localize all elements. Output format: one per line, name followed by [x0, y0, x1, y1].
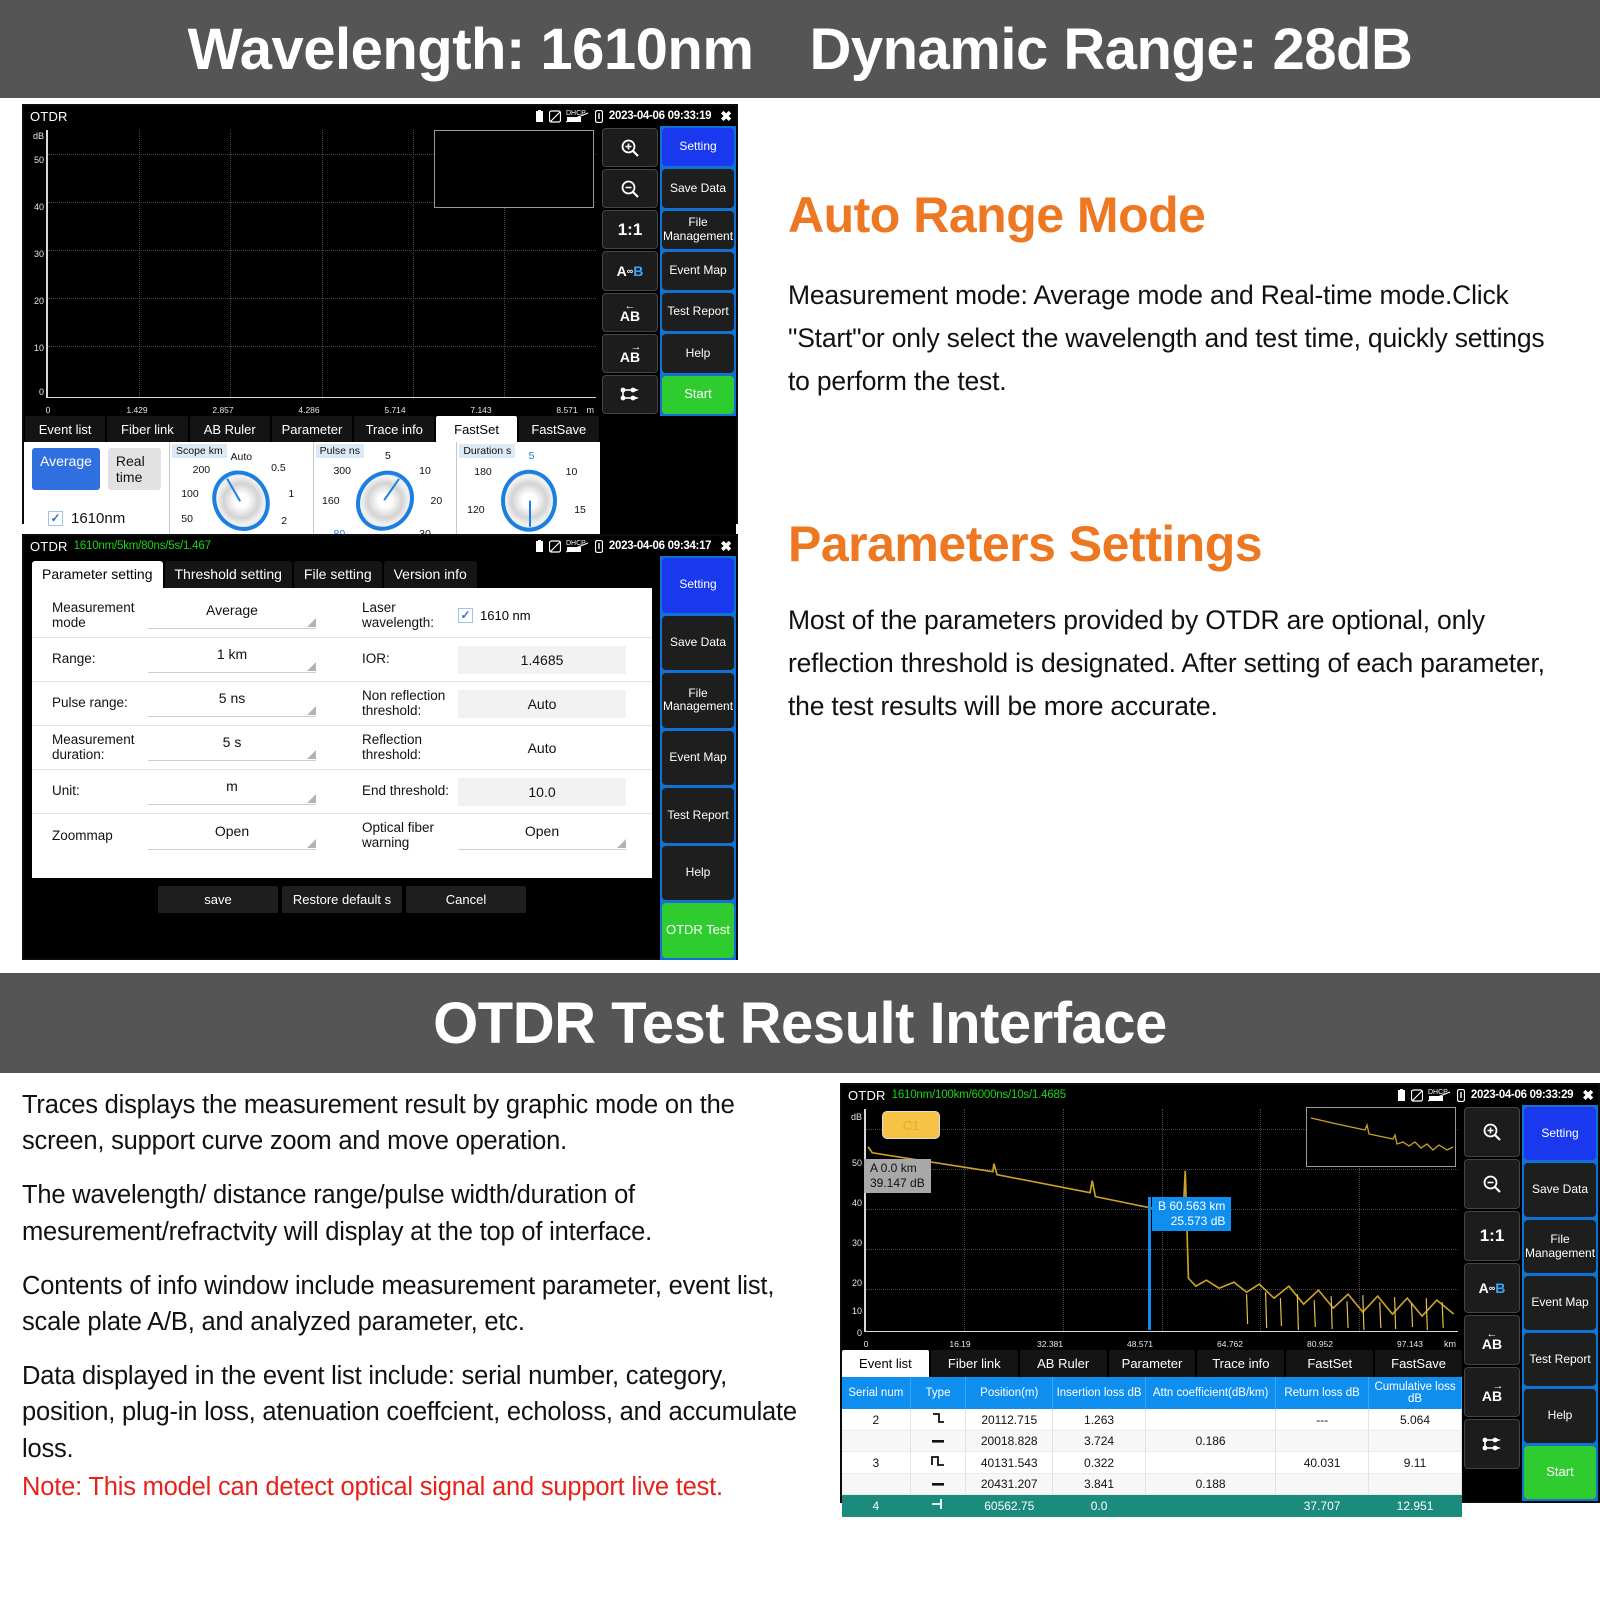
cell-serial	[842, 1474, 910, 1495]
cell-position: 20018.828	[966, 1431, 1053, 1452]
screen3-xtick-4: 64.762	[1217, 1339, 1243, 1349]
tab-fiber-link[interactable]: Fiber link	[107, 416, 187, 442]
scope-mark-1: 1	[288, 488, 294, 500]
screen1-xtick-0: 0	[46, 405, 51, 415]
label-laser-wavelength: Laser wavelength:	[362, 601, 458, 631]
bottom-paragraph-4: Data displayed in the event list include…	[22, 1358, 822, 1467]
duration-mark-10: 10	[566, 466, 578, 478]
scope-dial-knob[interactable]	[202, 460, 281, 542]
cell-cumulative: 12.951	[1369, 1495, 1462, 1517]
cell-return: 40.031	[1276, 1452, 1369, 1474]
tab-event-list[interactable]: Event list	[842, 1350, 929, 1377]
menu-event-map-button[interactable]: Event Map	[1524, 1276, 1596, 1329]
cell-return	[1276, 1474, 1369, 1495]
cell-attn	[1146, 1452, 1276, 1474]
screen1-status-icons: DHCP	[535, 109, 603, 123]
screen1-ytick-40: 40	[24, 202, 44, 212]
tab-fastsave[interactable]: FastSave	[1375, 1350, 1462, 1377]
scope-mark-200: 200	[193, 464, 211, 476]
tab-parameter-setting[interactable]: Parameter setting	[32, 561, 163, 588]
screen1-timestamp: 2023-04-06 09:33:19	[609, 110, 711, 122]
duration-mark-5: 5	[529, 450, 535, 462]
scope-mark-50: 50	[181, 513, 193, 525]
heading-parameters-settings: Parameters Settings	[788, 515, 1570, 573]
screen3-xtick-1: 16.19	[949, 1339, 970, 1349]
screen3-ytick-10: 10	[842, 1306, 862, 1316]
cell-insertion: 3.724	[1053, 1431, 1146, 1452]
marker-a-position: A 0.0 km	[870, 1161, 925, 1176]
screen1-ytick-50: 50	[24, 155, 44, 165]
cell-cumulative: 5.064	[1369, 1409, 1462, 1431]
ab-move-right-icon[interactable]: →AB	[1464, 1367, 1520, 1417]
settings-footer: save Restore default s Cancel	[24, 878, 660, 921]
screen3-tool-column: 1:1 A∞B ←AB →AB	[1462, 1105, 1522, 1471]
bottom-paragraph-3: Contents of info window include measurem…	[22, 1268, 822, 1340]
tab-trace-info[interactable]: Trace info	[1197, 1350, 1284, 1377]
screen1-xtick-1: 1.429	[126, 405, 147, 415]
zoom-in-icon[interactable]	[1464, 1107, 1520, 1157]
dropdown-optical-fiber-warning[interactable]: Open	[458, 823, 626, 850]
menu-help-button[interactable]: Help	[662, 846, 734, 901]
screen3-test-params: 1610nm/100km/6000ns/10s/1.4685	[892, 1089, 1066, 1101]
screen2-status-icons: DHCP	[535, 539, 603, 553]
scope-mark-auto: Auto	[231, 451, 253, 463]
close-icon[interactable]: ✖	[720, 538, 732, 555]
table-row[interactable]: 20018.828 3.724 0.186	[842, 1431, 1462, 1452]
dhcp-icon: DHCP	[1428, 1088, 1452, 1102]
auto-fit-icon[interactable]	[1464, 1419, 1520, 1469]
tab-event-list[interactable]: Event list	[25, 416, 105, 442]
event-list-header-row: Serial num Type Position(m) Insertion lo…	[842, 1377, 1462, 1409]
menu-file-management-button[interactable]: File Management	[1524, 1220, 1596, 1273]
screen1-x-unit: m	[587, 405, 595, 415]
power-icon	[595, 110, 603, 123]
screen3-status-icons: DHCP	[1397, 1088, 1465, 1102]
screen2-menu-column: Setting Save Data File Management Event …	[660, 556, 736, 960]
screen1-zoom-inset	[434, 130, 594, 208]
average-mode-button[interactable]: Average	[32, 448, 100, 490]
screen1-ytick-30: 30	[24, 249, 44, 259]
bottom-description-column: Traces displays the measurement result b…	[0, 1073, 840, 1600]
menu-otdr-test-button[interactable]: OTDR Test	[662, 903, 734, 958]
one-to-one-icon[interactable]: 1:1	[602, 210, 658, 249]
screen1-ytick-10: 10	[24, 343, 44, 353]
cell-position: 20431.207	[966, 1474, 1053, 1495]
close-icon[interactable]: ✖	[1582, 1087, 1594, 1104]
cell-insertion: 1.263	[1053, 1409, 1146, 1431]
svg-text:DHCP: DHCP	[1428, 1089, 1448, 1096]
scope-mark-0.5: 0.5	[271, 462, 286, 474]
fiber-section-icon	[910, 1431, 966, 1452]
input-non-reflection-threshold[interactable]: Auto	[458, 690, 626, 718]
menu-save-data-button[interactable]: Save Data	[662, 169, 734, 207]
fiber-end-icon	[910, 1495, 966, 1517]
menu-save-data-button[interactable]: Save Data	[1524, 1163, 1596, 1216]
marker-a[interactable]: A 0.0 km 39.147 dB	[864, 1159, 931, 1193]
col-type: Type	[910, 1377, 966, 1409]
text-auto-range-mode: Measurement mode: Average mode and Real-…	[788, 274, 1570, 403]
tab-ab-ruler[interactable]: AB Ruler	[190, 416, 270, 442]
top-banner: Wavelength: 1610nm Dynamic Range: 28dB	[0, 0, 1600, 98]
zoom-out-icon[interactable]	[602, 169, 658, 208]
cell-insertion: 3.841	[1053, 1474, 1146, 1495]
input-ior[interactable]: 1.4685	[458, 646, 626, 674]
marker-c1[interactable]: C1	[882, 1111, 940, 1139]
bottom-paragraph-1: Traces displays the measurement result b…	[22, 1087, 822, 1159]
tab-version-info[interactable]: Version info	[384, 561, 477, 588]
dhcp-icon: DHCP	[566, 539, 590, 553]
cell-attn	[1146, 1409, 1276, 1431]
tab-ab-ruler[interactable]: AB Ruler	[1020, 1350, 1107, 1377]
col-cumulative-loss: Cumulative loss dB	[1369, 1377, 1462, 1409]
reflection-peak-icon	[910, 1452, 966, 1474]
label-ior: IOR:	[362, 652, 458, 667]
screen1-ytick-0: 0	[24, 387, 44, 397]
settings-form: Measurement mode Average Laser wavelengt…	[32, 588, 652, 878]
label-range: Range:	[52, 652, 148, 667]
screen2-titlebar: OTDR 1610nm/5km/80ns/5s/1.467 DHCP 2023-…	[24, 536, 736, 556]
table-row[interactable]: 2 20112.715 1.263 --- 5.064	[842, 1409, 1462, 1431]
sim-icon	[549, 110, 561, 123]
dropdown-measurement-mode[interactable]: Average	[148, 602, 316, 629]
screen2-test-params: 1610nm/5km/80ns/5s/1.467	[74, 540, 211, 552]
cell-cumulative: 9.11	[1369, 1452, 1462, 1474]
menu-start-button[interactable]: Start	[662, 376, 734, 414]
screen3-xtick-2: 32.381	[1037, 1339, 1063, 1349]
screen3-zoom-inset	[1306, 1107, 1456, 1167]
cell-return: ---	[1276, 1409, 1369, 1431]
marker-b-position: B 60.563 km	[1158, 1199, 1225, 1214]
label-unit: Unit:	[52, 784, 148, 799]
screen3-trace-chart[interactable]: dB 50 40 30 20 10 0 0 16.19 32.381 48.57…	[842, 1105, 1462, 1350]
dropdown-unit[interactable]: m	[148, 778, 316, 805]
cell-attn: 0.186	[1146, 1431, 1276, 1452]
menu-event-map-button[interactable]: Event Map	[662, 731, 734, 786]
ab-move-left-icon[interactable]: ←AB	[1464, 1315, 1520, 1365]
cell-position: 20112.715	[966, 1409, 1053, 1431]
cell-serial: 4	[842, 1495, 910, 1517]
menu-start-button[interactable]: Start	[1524, 1446, 1596, 1499]
duration-dial-label: Duration s	[459, 444, 515, 458]
pulse-mark-160: 160	[322, 495, 340, 507]
cell-serial: 2	[842, 1409, 910, 1431]
cell-insertion: 0.0	[1053, 1495, 1146, 1517]
label-reflection-threshold: Reflection threshold:	[362, 733, 458, 763]
cell-cumulative	[1369, 1431, 1462, 1452]
settings-row-measurement-duration: Measurement duration: 5 s Reflection thr…	[32, 726, 652, 770]
dropdown-range[interactable]: 1 km	[148, 646, 316, 673]
screen1-xtick-5: 7.143	[470, 405, 491, 415]
cell-position: 60562.75	[966, 1495, 1053, 1517]
marker-b[interactable]: B 60.563 km 25.573 dB	[1152, 1197, 1231, 1231]
table-row[interactable]: 3 40131.543 0.322 40.031 9.11	[842, 1452, 1462, 1474]
screen1-tabbar: Event list Fiber link AB Ruler Parameter…	[24, 416, 600, 442]
screen3-xtick-0: 0	[864, 1339, 869, 1349]
settings-row-unit: Unit: m End threshold: 10.0	[32, 770, 652, 814]
tab-parameter[interactable]: Parameter	[1109, 1350, 1196, 1377]
cell-cumulative	[1369, 1474, 1462, 1495]
tab-fastset[interactable]: FastSet	[436, 416, 516, 442]
scope-mark-100: 100	[181, 488, 199, 500]
ab-move-right-icon[interactable]: →AB	[602, 334, 658, 373]
label-end-threshold: End threshold:	[362, 784, 458, 799]
power-icon	[595, 540, 603, 553]
duration-dial-knob[interactable]	[501, 470, 557, 532]
wavelength-label: 1610nm	[71, 510, 125, 527]
settings-row-zoommap: Zoommap Open Optical fiber warning Open	[32, 814, 652, 858]
cancel-button[interactable]: Cancel	[406, 886, 526, 913]
col-serial-num: Serial num	[842, 1377, 910, 1409]
tab-file-setting[interactable]: File setting	[294, 561, 382, 588]
screen1-xtick-2: 2.857	[212, 405, 233, 415]
left-screens-column: OTDR DHCP 2023-04-06 09:33:19 ✖	[0, 98, 770, 973]
auto-fit-icon[interactable]	[602, 375, 658, 414]
mid-banner-title: OTDR Test Result Interface	[433, 990, 1167, 1057]
marker-a-loss: 39.147 dB	[870, 1176, 925, 1191]
table-row[interactable]: 4 60562.75 0.0 37.707 12.951	[842, 1495, 1462, 1517]
menu-help-button[interactable]: Help	[1524, 1389, 1596, 1442]
reflective-event-icon	[910, 1409, 966, 1431]
screen1-xtick-4: 5.714	[384, 405, 405, 415]
battery-icon	[535, 110, 544, 123]
tab-threshold-setting[interactable]: Threshold setting	[165, 561, 292, 588]
right-description-column: Auto Range Mode Measurement mode: Averag…	[770, 98, 1600, 973]
table-row[interactable]: 20431.207 3.841 0.188	[842, 1474, 1462, 1495]
pulse-mark-300: 300	[333, 465, 351, 477]
otdr-screen-settings: OTDR 1610nm/5km/80ns/5s/1.467 DHCP 2023-…	[22, 534, 738, 960]
ab-move-left-icon[interactable]: ←AB	[602, 293, 658, 332]
screen3-ytick-0: 0	[842, 1328, 862, 1338]
text-parameters-settings: Most of the parameters provided by OTDR …	[788, 599, 1570, 728]
menu-save-data-button[interactable]: Save Data	[662, 616, 734, 671]
event-list-table: Serial num Type Position(m) Insertion lo…	[842, 1377, 1462, 1517]
pulse-dial-label: Pulse ns	[316, 444, 364, 458]
screen1-titlebar: OTDR DHCP 2023-04-06 09:33:19 ✖	[24, 106, 736, 126]
screen3-timestamp: 2023-04-06 09:33:29	[1471, 1089, 1573, 1101]
battery-icon	[535, 540, 544, 553]
fiber-section-icon	[910, 1474, 966, 1495]
menu-test-report-button[interactable]: Test Report	[1524, 1333, 1596, 1386]
screen1-app-title: OTDR	[30, 109, 68, 124]
screen3-xtick-5: 80.952	[1307, 1339, 1333, 1349]
menu-file-management-button[interactable]: File Management	[662, 211, 734, 249]
tab-fastsave[interactable]: FastSave	[519, 416, 599, 442]
menu-event-map-button[interactable]: Event Map	[662, 252, 734, 290]
col-position: Position(m)	[966, 1377, 1053, 1409]
label-optical-fiber-warning: Optical fiber warning	[362, 821, 458, 851]
power-icon	[1457, 1089, 1465, 1102]
pulse-dial-knob[interactable]	[344, 459, 425, 542]
duration-mark-120: 120	[467, 504, 485, 516]
marker-b-loss: 25.573 dB	[1158, 1214, 1225, 1229]
restore-defaults-button[interactable]: Restore default s	[282, 886, 402, 913]
label-non-reflection-threshold: Non reflection threshold:	[362, 689, 458, 719]
one-to-one-icon[interactable]: 1:1	[1464, 1211, 1520, 1261]
scope-dial-label: Scope km	[172, 444, 227, 458]
cell-return	[1276, 1431, 1369, 1452]
pulse-mark-5: 5	[385, 450, 391, 462]
screen1-trace-chart[interactable]: dB 50 40 30 20 10 0 0 1.429 2.857 4.286 …	[24, 126, 600, 416]
banner-dynamic-range: Dynamic Range: 28dB	[809, 16, 1412, 83]
cell-attn: 0.188	[1146, 1474, 1276, 1495]
otdr-screen-autorange: OTDR DHCP 2023-04-06 09:33:19 ✖	[22, 104, 738, 524]
duration-mark-180: 180	[474, 466, 492, 478]
screen1-y-axis-label: dB	[24, 131, 44, 141]
settings-row-pulse-range: Pulse range: 5 ns Non reflection thresho…	[32, 682, 652, 726]
scope-mark-2: 2	[281, 515, 287, 527]
ab-link-icon[interactable]: A∞B	[602, 251, 658, 290]
label-pulse-range: Pulse range:	[52, 696, 148, 711]
save-button[interactable]: save	[158, 886, 278, 913]
sim-icon	[1411, 1089, 1423, 1102]
screen1-plot-area	[46, 130, 596, 398]
menu-help-button[interactable]: Help	[662, 334, 734, 372]
settings-row-range: Range: 1 km IOR: 1.4685	[32, 638, 652, 682]
duration-mark-15: 15	[574, 504, 586, 516]
label-measurement-duration: Measurement duration:	[52, 733, 148, 763]
col-insertion-loss: Insertion loss dB	[1053, 1377, 1146, 1409]
screen3-tabbar: Event list Fiber link AB Ruler Parameter…	[842, 1350, 1462, 1377]
zoom-out-icon[interactable]	[1464, 1159, 1520, 1209]
mid-banner: OTDR Test Result Interface	[0, 973, 1600, 1073]
dhcp-icon: DHCP	[566, 109, 590, 123]
cursor-b-line[interactable]	[1148, 1197, 1151, 1330]
settings-tabbar: Parameter setting Threshold setting File…	[24, 556, 660, 588]
menu-setting-button[interactable]: Setting	[662, 128, 734, 166]
col-return-loss: Return loss dB	[1276, 1377, 1369, 1409]
cell-attn	[1146, 1495, 1276, 1517]
screen2-timestamp: 2023-04-06 09:34:17	[609, 540, 711, 552]
menu-test-report-button[interactable]: Test Report	[662, 788, 734, 843]
screen1-xtick-3: 4.286	[298, 405, 319, 415]
svg-text:DHCP: DHCP	[566, 110, 586, 117]
dropdown-zoommap[interactable]: Open	[148, 823, 316, 850]
settings-row-measurement-mode: Measurement mode Average Laser wavelengt…	[32, 594, 652, 638]
close-icon[interactable]: ✖	[720, 108, 732, 125]
screen3-ytick-30: 30	[842, 1238, 862, 1248]
screen3-x-unit: km	[1444, 1339, 1456, 1349]
screen3-xtick-3: 48.571	[1127, 1339, 1153, 1349]
screen3-y-axis-label: dB	[842, 1112, 862, 1122]
screen3-ytick-40: 40	[842, 1198, 862, 1208]
cell-position: 40131.543	[966, 1452, 1053, 1474]
heading-auto-range-mode: Auto Range Mode	[788, 186, 1570, 244]
label-measurement-mode: Measurement mode	[52, 601, 148, 631]
menu-setting-button[interactable]: Setting	[1524, 1107, 1596, 1160]
result-screen-column: OTDR 1610nm/100km/6000ns/10s/1.4685 DHCP…	[840, 1073, 1600, 1600]
tab-parameter[interactable]: Parameter	[272, 416, 352, 442]
tab-trace-info[interactable]: Trace info	[354, 416, 434, 442]
value-laser-wavelength: 1610 nm	[480, 608, 531, 623]
screen3-xtick-6: 97.143	[1397, 1339, 1423, 1349]
ab-link-icon[interactable]: A∞B	[1464, 1263, 1520, 1313]
zoom-in-icon[interactable]	[602, 128, 658, 167]
battery-icon	[1397, 1089, 1406, 1102]
realtime-mode-button[interactable]: Real time	[108, 448, 161, 490]
menu-test-report-button[interactable]: Test Report	[662, 293, 734, 331]
svg-text:DHCP: DHCP	[566, 540, 586, 547]
sim-icon	[549, 540, 561, 553]
screen3-app-title: OTDR	[848, 1088, 886, 1103]
pulse-mark-20: 20	[431, 495, 443, 507]
input-end-threshold[interactable]: 10.0	[458, 778, 626, 806]
tab-fiber-link[interactable]: Fiber link	[931, 1350, 1018, 1377]
dropdown-measurement-duration[interactable]: 5 s	[148, 734, 316, 761]
otdr-screen-result: OTDR 1610nm/100km/6000ns/10s/1.4685 DHCP…	[840, 1083, 1600, 1503]
banner-wavelength: Wavelength: 1610nm	[188, 16, 754, 83]
screen3-titlebar: OTDR 1610nm/100km/6000ns/10s/1.4685 DHCP…	[842, 1085, 1598, 1105]
menu-setting-button[interactable]: Setting	[662, 558, 734, 613]
tab-fastset[interactable]: FastSet	[1286, 1350, 1373, 1377]
cell-serial	[842, 1431, 910, 1452]
menu-file-management-button[interactable]: File Management	[662, 673, 734, 728]
col-attn-coefficient: Attn coefficient(dB/km)	[1146, 1377, 1276, 1409]
screen1-ytick-20: 20	[24, 296, 44, 306]
screen2-app-title: OTDR	[30, 539, 68, 554]
dropdown-pulse-range[interactable]: 5 ns	[148, 690, 316, 717]
value-reflection-threshold[interactable]: Auto	[458, 740, 626, 756]
bottom-paragraph-2: The wavelength/ distance range/pulse wid…	[22, 1177, 822, 1249]
screen3-menu-column: Setting Save Data File Management Event …	[1522, 1105, 1598, 1501]
pulse-mark-10: 10	[419, 465, 431, 477]
screen3-ytick-50: 50	[842, 1158, 862, 1168]
cell-return: 37.707	[1276, 1495, 1369, 1517]
screen1-menu-column: Setting Save Data File Management Event …	[660, 126, 736, 416]
cell-insertion: 0.322	[1053, 1452, 1146, 1474]
bottom-note: Note: This model can detect optical sign…	[22, 1471, 822, 1504]
label-zoommap: Zoommap	[52, 829, 148, 844]
screen1-xtick-6: 8.571	[556, 405, 577, 415]
cell-serial: 3	[842, 1452, 910, 1474]
screen3-ytick-20: 20	[842, 1278, 862, 1288]
screen1-tool-column: 1:1 A∞B ←AB →AB	[600, 126, 660, 416]
wavelength-checkbox[interactable]: ✓	[48, 511, 63, 526]
laser-wavelength-checkbox[interactable]: ✓	[458, 608, 473, 623]
